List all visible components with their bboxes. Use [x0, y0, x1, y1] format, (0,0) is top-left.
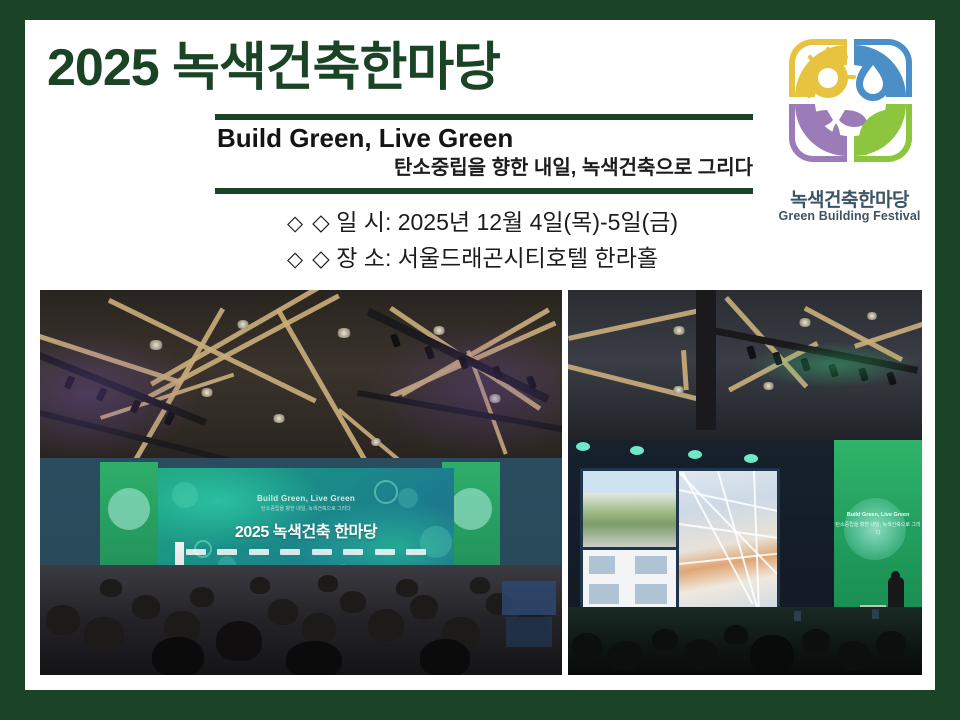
divider-bottom: [215, 188, 753, 194]
diamond-icon: ◇: [287, 244, 303, 277]
logo-name-korean: 녹색건축한마당: [767, 185, 932, 212]
info-date-text: ◇ 일 시: 2025년 12월 4일(목)-5일(금): [312, 205, 678, 241]
led-screen-title: 2025 녹색건축 한마당: [158, 518, 454, 542]
divider-top: [215, 114, 753, 120]
subtitle-korean: 탄소중립을 향한 내일, 녹색건축으로 그리다: [217, 156, 753, 180]
info-row-venue: ◇ ◇ 장 소: 서울드래곤시티호텔 한라홀: [287, 241, 678, 277]
audience-region: [40, 565, 562, 675]
festival-logo: 녹색건축한마당 Green Building Festival: [767, 33, 932, 233]
diamond-icon: ◇: [287, 208, 303, 241]
audience-region: [568, 607, 922, 675]
slide-aerial-photo: [583, 471, 676, 547]
sprout-leaf-right-icon: [839, 110, 867, 127]
poster-header: 2025 녹색건축한마당 Build Green, Live Green 탄소중…: [25, 20, 935, 285]
sponsor-logo-row: [186, 548, 426, 555]
photo-opening-ceremony-hall: Build Green, Live Green 탄소중립을 향한 내일, 녹색건…: [40, 290, 562, 675]
event-info-list: ◇ ◇ 일 시: 2025년 12월 4일(목)-5일(금) ◇ ◇ 장 소: …: [287, 205, 678, 276]
led-stage-screen: Build Green, Live Green 탄소중립을 향한 내일, 녹색건…: [158, 468, 454, 580]
logo-name-english: Green Building Festival: [767, 209, 932, 223]
logo-mark-icon: [783, 33, 918, 168]
page-title: 2025 녹색건축한마당: [47, 42, 500, 94]
info-venue-text: ◇ 장 소: 서울드래곤시티호텔 한라홀: [312, 241, 658, 277]
green-wall-subtitle-en: Build Green, Live Green: [834, 512, 922, 518]
photo-presentation-session: Build Green, Live Green 탄소중립을 향한 내일, 녹색건…: [568, 290, 922, 675]
stage-green-wall: Build Green, Live Green 탄소중립을 향한 내일, 녹색건…: [834, 440, 922, 630]
led-screen-subtitle-kr: 탄소중립을 향한 내일, 녹색건축으로 그리다: [158, 505, 454, 512]
poster-card: 2025 녹색건축한마당 Build Green, Live Green 탄소중…: [25, 20, 935, 690]
subtitle-english: Build Green, Live Green: [217, 124, 513, 154]
green-wall-subtitle-kr: 탄소중립을 향한 내일, 녹색건축으로 그리다: [834, 522, 922, 537]
info-row-date: ◇ ◇ 일 시: 2025년 12월 4일(목)-5일(금): [287, 205, 678, 241]
poster-frame: 2025 녹색건축한마당 Build Green, Live Green 탄소중…: [0, 0, 960, 720]
presentation-screen: [580, 468, 780, 620]
photo-strip: Build Green, Live Green 탄소중립을 향한 내일, 녹색건…: [40, 290, 922, 675]
led-screen-subtitle-en: Build Green, Live Green: [158, 494, 454, 503]
slide-atrium-render: [679, 471, 777, 617]
